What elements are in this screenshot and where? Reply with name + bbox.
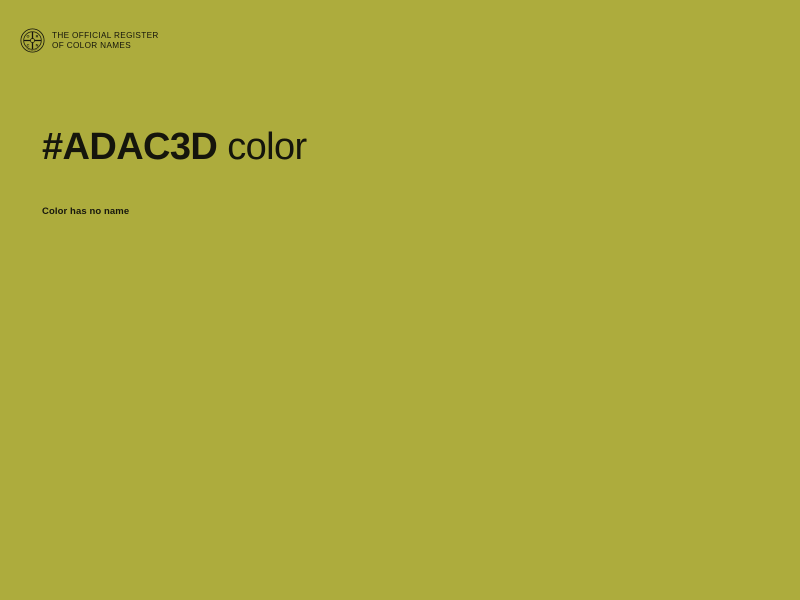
brand-title-line-1: THE OFFICIAL REGISTER (52, 31, 159, 41)
svg-text:O: O (27, 35, 30, 39)
svg-text:N: N (36, 44, 39, 48)
register-seal-icon: O R C N (20, 28, 45, 53)
page-title: #ADAC3D color (42, 126, 760, 170)
page-root: O R C N THE OFFICIAL REGISTER OF COLOR N… (0, 0, 800, 600)
svg-text:R: R (36, 35, 39, 39)
brand-header[interactable]: O R C N THE OFFICIAL REGISTER OF COLOR N… (20, 28, 159, 53)
svg-text:C: C (27, 44, 30, 48)
color-detail: #ADAC3D color Color has no name (42, 126, 760, 217)
brand-title-line-2: OF COLOR NAMES (52, 41, 159, 51)
color-title-suffix: color (217, 126, 306, 168)
color-name-status: Color has no name (42, 170, 760, 217)
color-hex-value: #ADAC3D (42, 126, 217, 168)
brand-title: THE OFFICIAL REGISTER OF COLOR NAMES (52, 31, 159, 50)
